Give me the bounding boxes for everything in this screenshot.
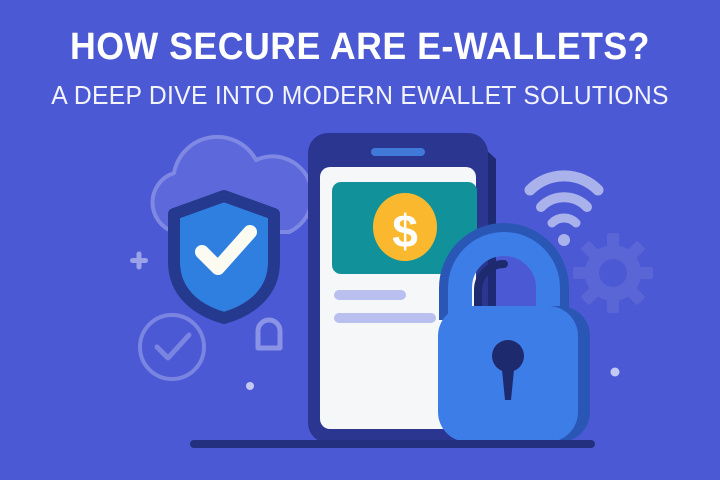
- illustration-canvas: $: [0, 0, 720, 480]
- decorative-dot: [611, 368, 620, 377]
- coin-dollar-symbol: $: [392, 205, 418, 257]
- shield-check-icon: [174, 196, 274, 318]
- phone-speaker: [371, 148, 425, 156]
- decorative-dot: [246, 382, 254, 390]
- placeholder-text-line: [334, 313, 436, 323]
- ground-line: [190, 440, 595, 448]
- placeholder-text-line: [334, 290, 406, 300]
- ewallet-security-banner: $ HOW SECURE ARE E-WALLETS?: [0, 0, 720, 480]
